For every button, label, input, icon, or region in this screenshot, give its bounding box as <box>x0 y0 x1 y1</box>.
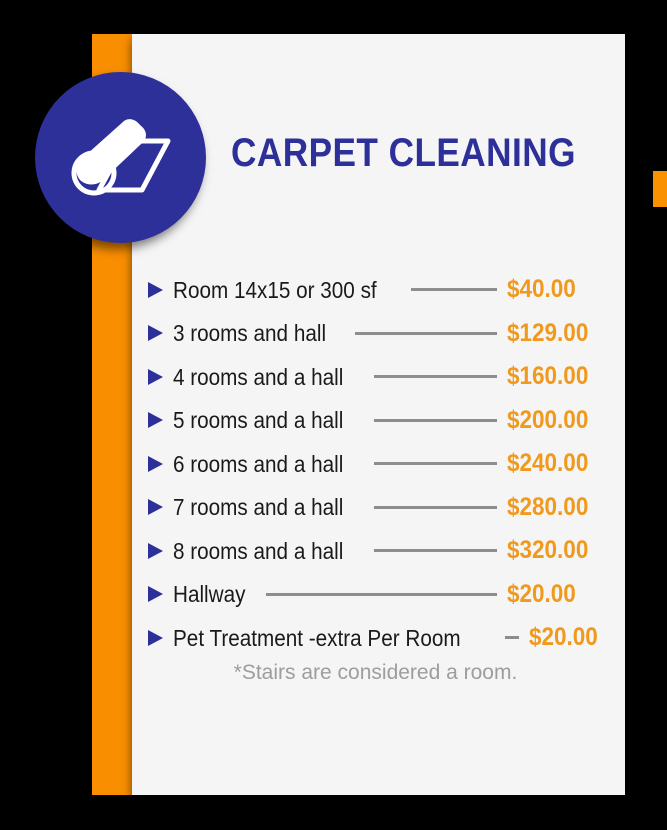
triangle-bullet-icon <box>148 499 163 515</box>
service-price: $200.00 <box>507 406 584 435</box>
triangle-bullet-icon <box>148 282 163 298</box>
service-price: $40.00 <box>507 275 584 304</box>
service-label: 5 rooms and a hall <box>173 407 343 433</box>
price-list: Room 14x15 or 300 sf $40.00 3 rooms and … <box>148 268 593 660</box>
service-label: 6 rooms and a hall <box>173 451 343 477</box>
leader-line <box>374 506 497 509</box>
triangle-bullet-icon <box>148 586 163 602</box>
price-row[interactable]: 5 rooms and a hall $200.00 <box>148 399 593 443</box>
price-row[interactable]: Pet Treatment -extra Per Room $20.00 <box>148 616 593 660</box>
footnote: *Stairs are considered a room. <box>148 661 603 685</box>
service-price: $20.00 <box>529 623 606 652</box>
service-price: $129.00 <box>507 319 584 348</box>
price-row[interactable]: 3 rooms and hall $129.00 <box>148 312 593 356</box>
leader-line <box>266 593 497 596</box>
title-accent-block <box>653 171 667 207</box>
page-title: CARPET CLEANING <box>231 130 576 176</box>
service-label: 8 rooms and a hall <box>173 538 343 564</box>
price-row[interactable]: 8 rooms and a hall $320.00 <box>148 529 593 573</box>
triangle-bullet-icon <box>148 543 163 559</box>
service-label: Hallway <box>173 581 245 607</box>
price-row[interactable]: 4 rooms and a hall $160.00 <box>148 355 593 399</box>
service-price: $280.00 <box>507 493 584 522</box>
service-price: $240.00 <box>507 449 584 478</box>
triangle-bullet-icon <box>148 325 163 341</box>
service-label: Pet Treatment -extra Per Room <box>173 625 461 651</box>
leader-line <box>374 462 497 465</box>
leader-line <box>374 419 497 422</box>
service-label: 7 rooms and a hall <box>173 494 343 520</box>
leader-line <box>374 549 497 552</box>
triangle-bullet-icon <box>148 412 163 428</box>
price-row[interactable]: 6 rooms and a hall $240.00 <box>148 442 593 486</box>
service-label: 3 rooms and hall <box>173 320 326 346</box>
price-row[interactable]: Room 14x15 or 300 sf $40.00 <box>148 268 593 312</box>
triangle-bullet-icon <box>148 630 163 646</box>
triangle-bullet-icon <box>148 456 163 472</box>
triangle-bullet-icon <box>148 369 163 385</box>
carpet-roll-icon <box>68 111 174 205</box>
service-label: 4 rooms and a hall <box>173 364 343 390</box>
leader-line <box>374 375 497 378</box>
service-badge <box>35 72 206 243</box>
service-price: $160.00 <box>507 362 584 391</box>
service-price: $320.00 <box>507 536 584 565</box>
leader-line <box>411 288 497 291</box>
leader-line <box>505 636 519 639</box>
price-row[interactable]: 7 rooms and a hall $280.00 <box>148 486 593 530</box>
price-row[interactable]: Hallway $20.00 <box>148 573 593 617</box>
leader-line <box>355 332 497 335</box>
service-label: Room 14x15 or 300 sf <box>173 277 377 303</box>
pricing-card-page: CARPET CLEANING Room 14x15 or 300 sf $40… <box>0 0 667 830</box>
service-price: $20.00 <box>507 580 584 609</box>
